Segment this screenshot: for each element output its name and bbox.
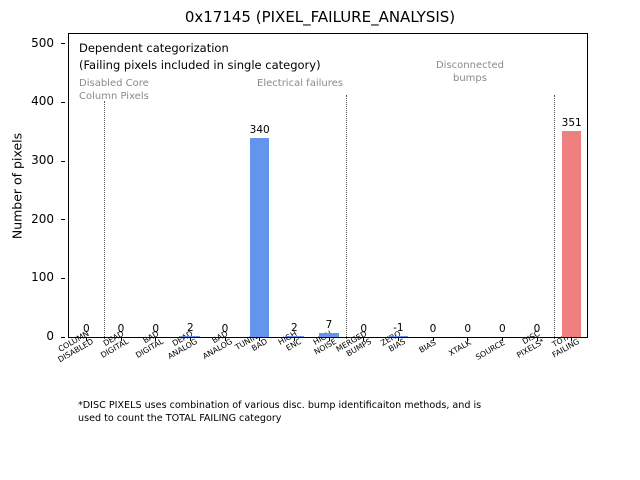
y-tick-label: 500	[0, 36, 54, 50]
y-tick-line	[61, 337, 65, 338]
chart-figure: 0x17145 (PIXEL_FAILURE_ANALYSIS) Number …	[0, 0, 640, 480]
bar[interactable]: -1	[389, 336, 408, 337]
bar-value-label: 0	[222, 323, 229, 335]
bar-value-label: 351	[562, 117, 582, 129]
y-tick-line	[61, 219, 65, 220]
bar-value-label: 2	[291, 322, 298, 334]
y-tick-line	[61, 278, 65, 279]
bar[interactable]: 7	[319, 333, 338, 337]
annotation-group-electrical-failures: Electrical failures	[225, 77, 375, 90]
annotation-failing-pixels-note: (Failing pixels included in single categ…	[79, 59, 321, 72]
x-tick-label: BADANALOG	[197, 329, 234, 361]
y-tick-line	[61, 43, 65, 44]
bar-value-label: 0	[430, 323, 437, 335]
x-tick-label: SOURCE	[474, 338, 506, 362]
bar[interactable]: 340	[250, 138, 269, 337]
x-tick-label: BADDIGITAL	[129, 329, 164, 360]
annotation-dependent-categorization: Dependent categorization	[79, 42, 229, 55]
bar-value-label: 0	[118, 323, 125, 335]
y-tick-line	[61, 102, 65, 103]
bar-value-label: 0	[534, 323, 541, 335]
bar-value-label: 7	[326, 319, 333, 331]
x-tick-label: DEADDIGITAL	[95, 329, 130, 360]
plot-inner: Number of pixels 0100200300400500 COLUMN…	[69, 34, 587, 337]
bar-value-label: 2	[187, 322, 194, 334]
y-axis-label: Number of pixels	[10, 86, 25, 286]
y-tick-label: 300	[0, 153, 54, 167]
bar-value-label: 0	[464, 323, 471, 335]
bar-value-label: 0	[83, 323, 90, 335]
x-tick-label: DISCPIXELS*	[511, 329, 546, 360]
bar-value-label: -1	[393, 322, 403, 334]
bar[interactable]: 351	[562, 131, 581, 337]
x-tick-label: DEADANALOG	[162, 329, 199, 361]
annotation-group-disabled-core: Disabled Core Column Pixels	[79, 77, 149, 103]
y-tick-label: 100	[0, 270, 54, 284]
plot-area: Number of pixels 0100200300400500 COLUMN…	[68, 33, 588, 338]
bar-value-label: 0	[152, 323, 159, 335]
bar-value-label: 0	[360, 323, 367, 335]
y-tick-line	[61, 161, 65, 162]
category-divider	[554, 95, 555, 339]
bar-value-label: 0	[499, 323, 506, 335]
x-tick-label: XTALK	[447, 338, 472, 358]
category-divider	[104, 101, 105, 339]
annotation-group-disconnected-bumps: Disconnected bumps	[395, 59, 545, 85]
chart-title: 0x17145 (PIXEL_FAILURE_ANALYSIS)	[0, 8, 640, 26]
bar[interactable]: 2	[181, 336, 200, 337]
bar[interactable]: 2	[285, 336, 304, 337]
bar-value-label: 340	[250, 124, 270, 136]
footnote: *DISC PIXELS uses combination of various…	[78, 400, 578, 425]
x-tick-label: BIAS	[417, 338, 437, 355]
category-divider	[346, 95, 347, 339]
y-tick-label: 0	[0, 329, 54, 343]
y-tick-label: 200	[0, 212, 54, 226]
y-tick-label: 400	[0, 94, 54, 108]
